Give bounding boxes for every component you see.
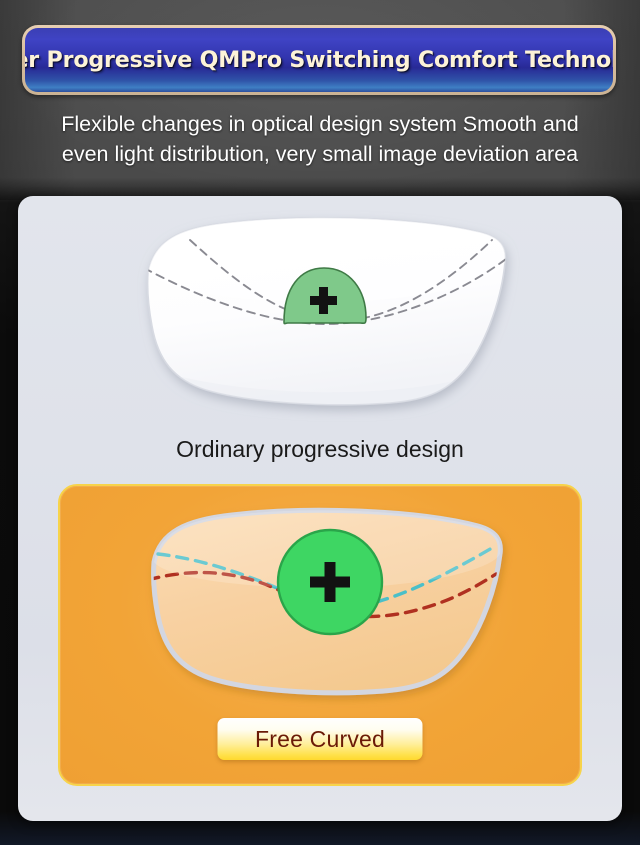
slide-canvas: Inner Progressive QMPro Switching Comfor… [0,0,640,845]
header-banner-title: Inner Progressive QMPro Switching Comfor… [25,47,613,73]
ordinary-lens-caption: Ordinary progressive design [18,436,622,463]
content-panel: Ordinary progressive design [18,196,622,821]
header-banner-inner: Inner Progressive QMPro Switching Comfor… [25,28,613,92]
free-curved-badge: Free Curved [218,718,423,760]
subtitle-line-2: even light distribution, very small imag… [0,139,640,169]
free-curved-badge-label: Free Curved [255,726,385,753]
free-curved-panel: Free Curved [58,484,582,786]
ordinary-lens-figure [128,210,518,415]
free-curved-near-zone-marker [278,530,382,634]
header-banner: Inner Progressive QMPro Switching Comfor… [22,25,616,95]
subtitle-line-1: Flexible changes in optical design syste… [0,109,640,139]
subtitle-block: Flexible changes in optical design syste… [0,109,640,169]
free-curved-lens-figure [140,504,510,704]
